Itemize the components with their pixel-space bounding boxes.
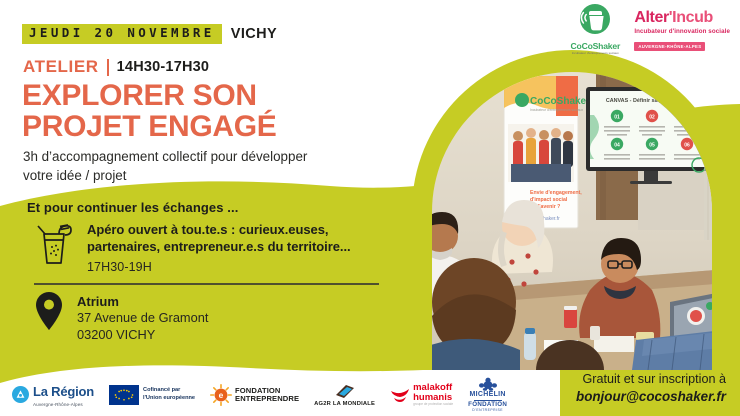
venue-street: 37 Avenue de Gramont bbox=[77, 309, 208, 326]
svg-text:CoCoShaker: CoCoShaker bbox=[530, 96, 590, 107]
svg-text:d'impact social: d'impact social bbox=[530, 197, 568, 203]
apero-row: Apéro ouvert à tou.te.s : curieux.euses,… bbox=[34, 220, 351, 274]
michelin-bibendum-icon bbox=[473, 377, 503, 391]
cocoshaker-logo[interactable]: CoCoShaker Incubateur d'entrepreneurs so… bbox=[564, 4, 626, 55]
svg-text:05: 05 bbox=[649, 142, 655, 148]
malakoff-humanis-mark-icon bbox=[390, 387, 410, 403]
partner-logo-malakoff-humanis[interactable]: malakoff humanis groupe de protection so… bbox=[390, 383, 453, 407]
partner-logo-fondation-entreprendre[interactable]: e FONDATION ENTREPRENDRE bbox=[210, 384, 299, 406]
event-type-row: ATELIER 14H30-17H30 bbox=[23, 57, 209, 77]
cocoshaker-shaker-icon bbox=[575, 4, 615, 36]
brand-lockup: CoCoShaker Incubateur d'entrepreneurs so… bbox=[564, 4, 730, 55]
fondation-entreprendre-line-2: ENTREPRENDRE bbox=[235, 395, 299, 404]
venue-row: Atrium 37 Avenue de Gramont 03200 VICHY bbox=[36, 292, 208, 343]
event-kind: ATELIER bbox=[23, 57, 99, 77]
eu-flag-icon bbox=[109, 385, 139, 405]
event-city: VICHY bbox=[231, 26, 277, 42]
section-divider bbox=[34, 283, 379, 285]
fondation-entreprendre-sun-icon: e bbox=[210, 384, 232, 406]
signup-label: Gratuit et sur inscription à bbox=[576, 371, 726, 388]
partner-logo-union-europeenne[interactable]: Cofinancé par l'Union européenne bbox=[109, 385, 195, 405]
svg-text:e: e bbox=[219, 390, 224, 400]
svg-text:Envie d'engagement,: Envie d'engagement, bbox=[530, 190, 582, 196]
apero-line-2: partenaires, entrepreneur.e.s du territo… bbox=[87, 238, 351, 255]
separator-bar bbox=[107, 59, 109, 76]
svg-text:06: 06 bbox=[684, 142, 690, 148]
event-date: JEUDI 20 NOVEMBRE bbox=[22, 24, 222, 44]
alterincub-name-part2: 'Incub bbox=[669, 9, 713, 26]
title-line-1: EXPLORER SON bbox=[22, 79, 257, 112]
date-row: JEUDI 20 NOVEMBRE VICHY bbox=[22, 24, 277, 44]
malakoff-line-2: humanis bbox=[413, 393, 453, 403]
cocoshaker-tagline: Incubateur d'entrepreneurs sociaux bbox=[564, 52, 626, 56]
la-region-mark-icon bbox=[12, 386, 29, 403]
signup-email[interactable]: bonjour@cocoshaker.fr bbox=[576, 388, 726, 406]
michelin-line-2: D'ENTREPRISE bbox=[472, 409, 503, 413]
alterincub-region-badge: AUVERGNE-RHÔNE-ALPES bbox=[634, 42, 705, 50]
partner-logos: La Région Auvergne-Rhône-Alpes bbox=[12, 378, 507, 412]
event-photo: CoCoShaker Incubateur d'entrepreneurs so… bbox=[404, 40, 740, 370]
svg-text:04: 04 bbox=[614, 142, 620, 148]
apero-lead: Et pour continuer les échanges ... bbox=[27, 200, 238, 215]
ag2r-mark-icon bbox=[333, 383, 357, 401]
event-subtitle: 3h d’accompagnement collectif pour dével… bbox=[23, 147, 363, 185]
la-region-name: La Région bbox=[33, 384, 94, 399]
partner-logo-ag2r-la-mondiale[interactable]: AG2R LA MONDIALE bbox=[314, 383, 375, 407]
subtitle-line-2: votre idée / projet bbox=[23, 166, 363, 185]
ag2r-name: AG2R LA MONDIALE bbox=[314, 401, 375, 407]
event-hours: 14H30-17H30 bbox=[117, 59, 210, 75]
malakoff-subtitle: groupe de protection sociale bbox=[413, 403, 453, 407]
signup-block: Gratuit et sur inscription à bonjour@coc… bbox=[576, 371, 726, 406]
apero-line-1: Apéro ouvert à tou.te.s : curieux.euses, bbox=[87, 221, 351, 238]
apero-time: 17H30-19H bbox=[87, 260, 351, 274]
alterincub-name-part1: Alter bbox=[634, 9, 668, 26]
page-title: EXPLORER SON PROJET ENGAGÉ bbox=[22, 80, 392, 142]
drink-glass-icon bbox=[34, 220, 74, 266]
apero-text: Apéro ouvert à tou.te.s : curieux.euses,… bbox=[87, 220, 351, 274]
title-line-2: PROJET ENGAGÉ bbox=[22, 111, 392, 142]
cocoshaker-name: CoCoShaker bbox=[564, 42, 626, 51]
partner-logo-la-region[interactable]: La Région Auvergne-Rhône-Alpes bbox=[12, 383, 94, 407]
event-poster: CoCoShaker Incubateur d'entrepreneurs so… bbox=[0, 0, 740, 416]
partner-logo-michelin-fondation[interactable]: MICHELIN FONDATION D'ENTREPRISE bbox=[468, 377, 507, 412]
subtitle-line-1: 3h d’accompagnement collectif pour dével… bbox=[23, 147, 363, 166]
michelin-name: MICHELIN bbox=[470, 391, 506, 398]
la-region-subtitle: Auvergne-Rhône-Alpes bbox=[33, 402, 94, 407]
eu-line-1: Cofinancé par bbox=[143, 387, 195, 395]
alterincub-tagline: Incubateur d'innovation sociale bbox=[634, 28, 730, 35]
svg-text:Incubateur d'entrepreneurs soc: Incubateur d'entrepreneurs sociaux bbox=[530, 108, 583, 112]
venue-text: Atrium 37 Avenue de Gramont 03200 VICHY bbox=[77, 292, 208, 343]
venue-name: Atrium bbox=[77, 294, 208, 309]
eu-line-2: l'Union européenne bbox=[143, 395, 195, 403]
svg-text:02: 02 bbox=[649, 114, 655, 120]
event-photo-image: CoCoShaker Incubateur d'entrepreneurs so… bbox=[404, 40, 740, 370]
venue-postal-city: 03200 VICHY bbox=[77, 326, 208, 343]
alterincub-logo[interactable]: Alter'Incub Incubateur d'innovation soci… bbox=[634, 4, 730, 53]
map-pin-icon bbox=[36, 292, 62, 330]
svg-text:01: 01 bbox=[614, 114, 620, 120]
